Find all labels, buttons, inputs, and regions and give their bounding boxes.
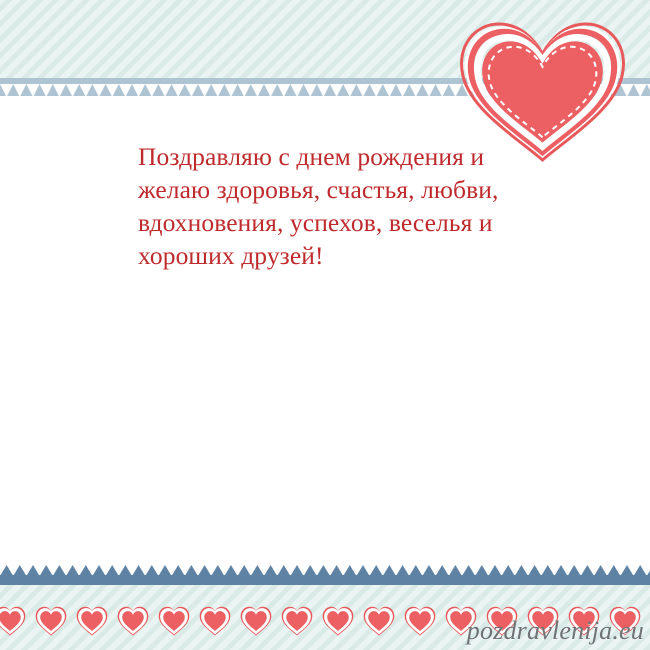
mini-heart-icon [76, 606, 108, 636]
mini-heart-icon [35, 606, 67, 636]
greeting-card: Поздравляю с днем рождения и желаю здоро… [0, 0, 650, 650]
mini-heart-icon [117, 606, 149, 636]
mini-heart-icon [404, 606, 436, 636]
bottom-zigzag-edge [0, 565, 650, 576]
mini-heart-icon [281, 606, 313, 636]
mini-heart-icon [158, 606, 190, 636]
mini-heart-icon [0, 606, 26, 636]
bottom-solid-band [0, 575, 650, 585]
mini-heart-icon [322, 606, 354, 636]
mini-heart-icon [199, 606, 231, 636]
watermark: pozdravlenija.eu [467, 616, 644, 646]
mini-heart-icon [240, 606, 272, 636]
greeting-message: Поздравляю с днем рождения и желаю здоро… [138, 140, 558, 272]
mini-heart-icon [363, 606, 395, 636]
